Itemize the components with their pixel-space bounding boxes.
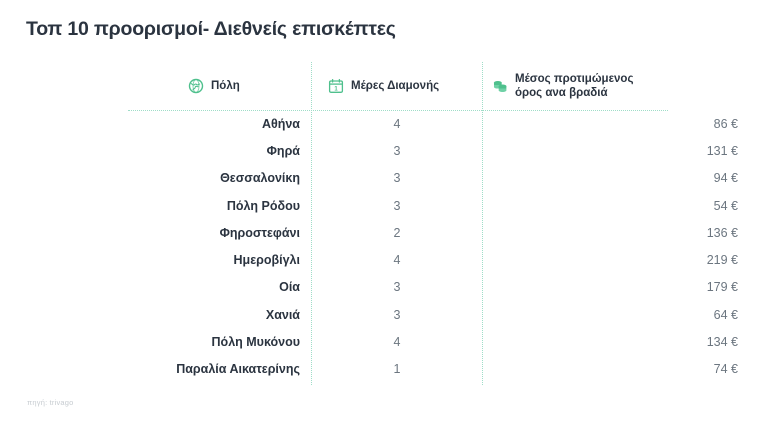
table-row: Αθήνα486 €	[128, 110, 668, 137]
table-row: Παραλία Αικατερίνης174 €	[128, 356, 668, 383]
column-header-price-label: Μέσος προτιμώμενος όρος ανα βραδιά	[515, 72, 633, 101]
cell-price: 86 €	[484, 110, 768, 137]
coins-icon	[492, 78, 508, 94]
cell-days: 1	[312, 356, 482, 383]
table-row: Χανιά364 €	[128, 301, 668, 328]
cell-days: 4	[312, 328, 482, 355]
globe-icon	[188, 78, 204, 94]
calendar-icon: 1	[328, 78, 344, 94]
column-header-days: 1 Μέρες Διαμονής	[328, 62, 478, 110]
cell-days: 4	[312, 110, 482, 137]
svg-text:1: 1	[334, 86, 338, 92]
cell-days: 3	[312, 274, 482, 301]
column-header-days-label: Μέρες Διαμονής	[351, 79, 439, 93]
column-header-city: Πόλη	[188, 62, 308, 110]
cell-city: Φηρά	[128, 137, 311, 164]
table-row: Φηροστεφάνι2136 €	[128, 219, 668, 246]
cell-days: 4	[312, 246, 482, 273]
table-row: Ημεροβίγλι4219 €	[128, 246, 668, 273]
cell-price: 54 €	[484, 192, 768, 219]
cell-days: 3	[312, 165, 482, 192]
cell-days: 3	[312, 301, 482, 328]
cell-days: 2	[312, 219, 482, 246]
cell-city: Ημεροβίγλι	[128, 246, 311, 273]
cell-city: Χανιά	[128, 301, 311, 328]
cell-city: Φηροστεφάνι	[128, 219, 311, 246]
cell-city: Παραλία Αικατερίνης	[128, 356, 311, 383]
table-row: Πόλη Μυκόνου4134 €	[128, 328, 668, 355]
cell-city: Αθήνα	[128, 110, 311, 137]
table-row: Φηρά3131 €	[128, 137, 668, 164]
cell-city: Πόλη Μυκόνου	[128, 328, 311, 355]
cell-price: 131 €	[484, 137, 768, 164]
table-body: Αθήνα486 €Φηρά3131 €Θεσσαλονίκη394 €Πόλη…	[128, 110, 668, 383]
table-header-row: Πόλη 1 Μέρες Διαμονής	[128, 62, 668, 110]
column-header-price: Μέσος προτιμώμενος όρος ανα βραδιά	[492, 62, 668, 110]
source-note: πηγή: trivago	[27, 398, 74, 407]
cell-city: Πόλη Ρόδου	[128, 192, 311, 219]
table-row: Πόλη Ρόδου354 €	[128, 192, 668, 219]
cell-price: 74 €	[484, 356, 768, 383]
column-header-city-label: Πόλη	[211, 79, 240, 93]
cell-days: 3	[312, 192, 482, 219]
cell-days: 3	[312, 137, 482, 164]
table-row: Θεσσαλονίκη394 €	[128, 165, 668, 192]
cell-price: 136 €	[484, 219, 768, 246]
cell-price: 64 €	[484, 301, 768, 328]
cell-city: Οία	[128, 274, 311, 301]
page-title: Τοπ 10 προορισμοί- Διεθνείς επισκέπτες	[26, 18, 396, 41]
cell-price: 134 €	[484, 328, 768, 355]
cell-price: 179 €	[484, 274, 768, 301]
cell-city: Θεσσαλονίκη	[128, 165, 311, 192]
table-row: Οία3179 €	[128, 274, 668, 301]
cell-price: 94 €	[484, 165, 768, 192]
destinations-table: Πόλη 1 Μέρες Διαμονής	[128, 62, 668, 387]
slide-canvas: Τοπ 10 προορισμοί- Διεθνείς επισκέπτες Π…	[0, 0, 768, 432]
cell-price: 219 €	[484, 246, 768, 273]
